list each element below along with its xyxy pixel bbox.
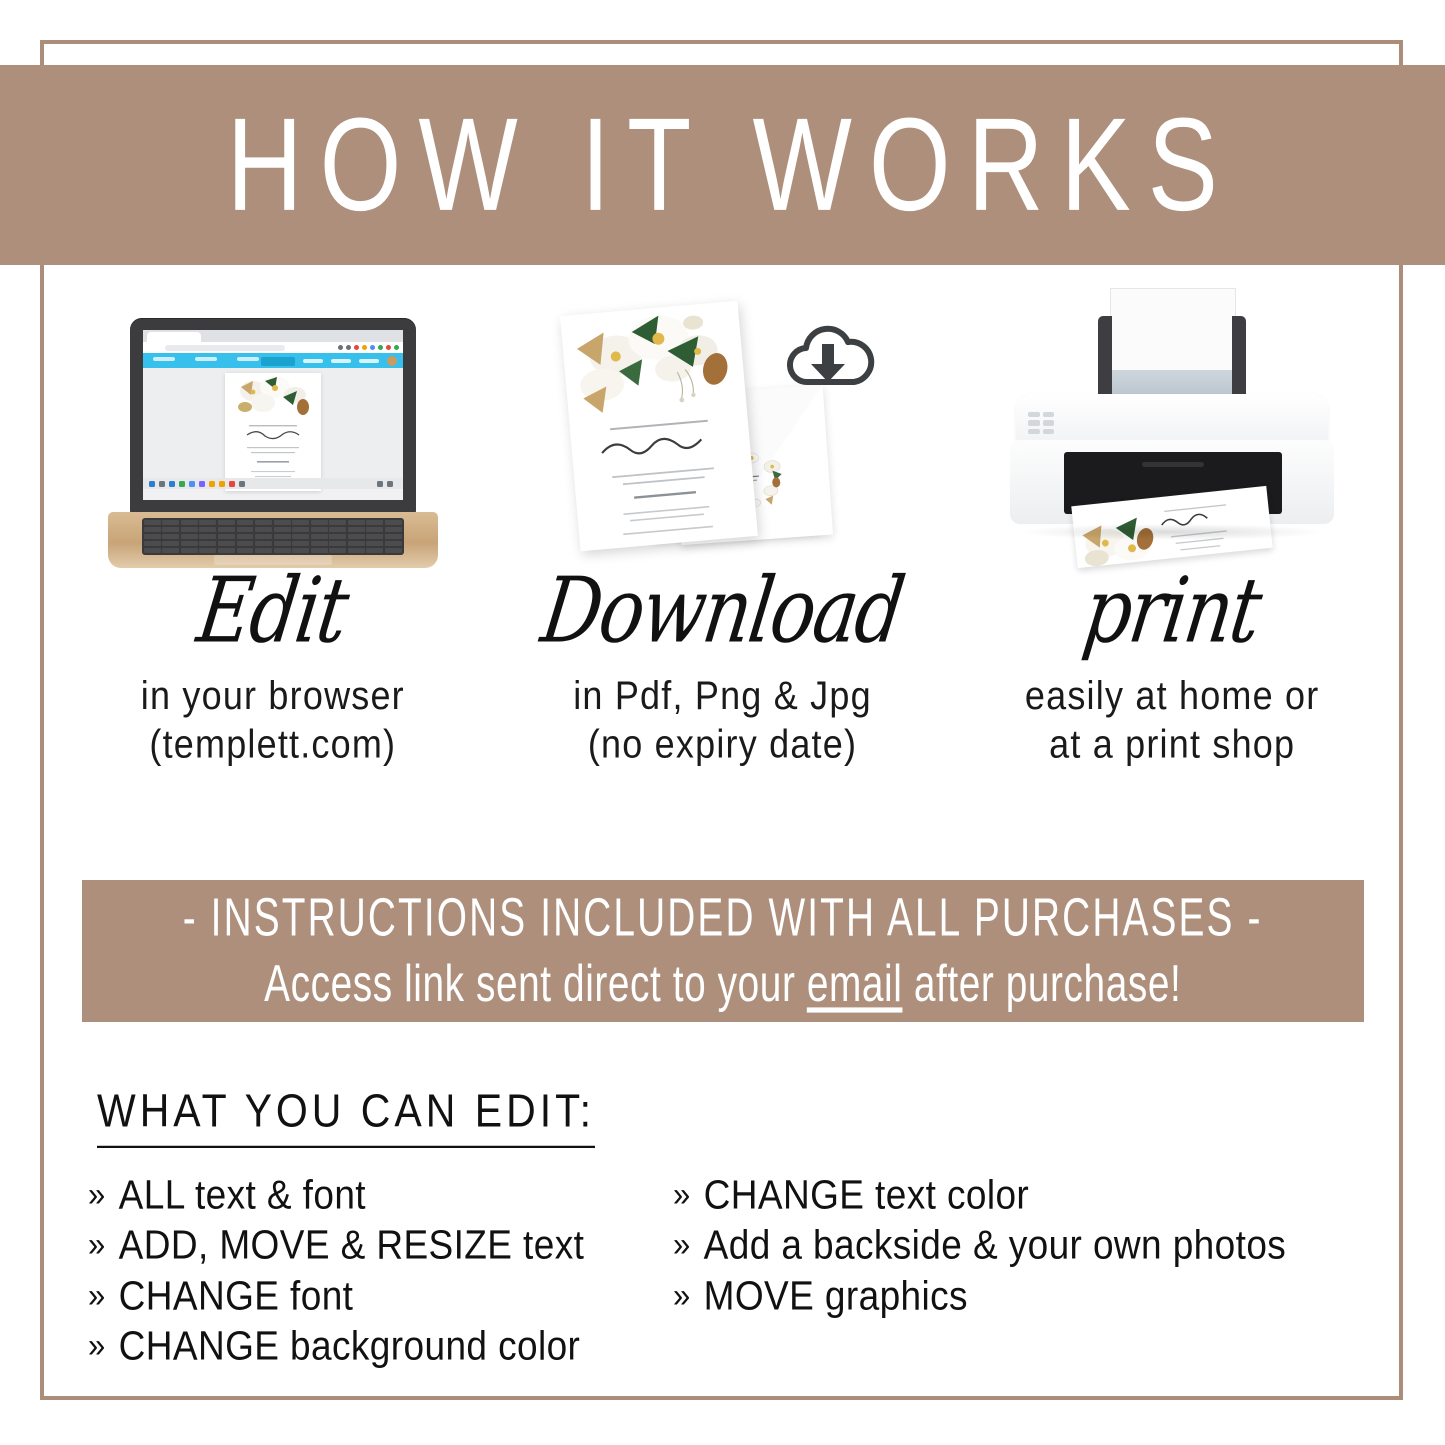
app-menu-items <box>153 357 259 361</box>
step-caption-edit: in your browser (templett.com) <box>141 672 405 769</box>
app-toolbar-actions <box>261 356 397 366</box>
chevron-double-right-icon: » <box>673 1227 691 1265</box>
step-caption-download: in Pdf, Png & Jpg (no expiry date) <box>573 672 872 769</box>
avatar <box>387 356 397 366</box>
steps-row: Edit in your browser (templett.com) <box>48 278 1397 818</box>
subline-after: after purchase! <box>903 955 1182 1012</box>
invitation-card <box>560 301 758 552</box>
what-you-can-edit-columns: » ALL text & font » ADD, MOVE & RESIZE t… <box>88 1172 1378 1374</box>
templett-app-toolbar <box>143 353 403 368</box>
editor-canvas <box>143 368 403 489</box>
invitation-preview <box>225 373 321 491</box>
list-item-label: MOVE graphics <box>704 1273 968 1319</box>
step-download: Download in Pdf, Png & Jpg (no expiry da… <box>498 278 948 818</box>
printer-shadow <box>1024 524 1320 540</box>
list-item-label: Add a backside & your own photos <box>704 1222 1287 1268</box>
browser-tab-bar <box>143 330 403 342</box>
step-caption-line2: at a print shop <box>1025 720 1320 768</box>
chevron-double-right-icon: » <box>673 1277 691 1315</box>
browser-extension-icons <box>338 345 399 350</box>
step-caption-line1: in your browser <box>141 672 405 720</box>
step-script-label-print: print <box>1079 566 1266 656</box>
laptop-keyboard <box>142 518 404 555</box>
what-you-can-edit-heading: WHAT YOU CAN EDIT: <box>97 1085 595 1148</box>
step-script-label-edit: Edit <box>193 566 352 656</box>
header-banner: HOW IT WORKS <box>0 65 1445 265</box>
page-title: HOW IT WORKS <box>210 99 1235 231</box>
invitation-floral-artwork <box>560 301 758 552</box>
email-link[interactable]: email <box>807 955 903 1012</box>
list-item: » ALL text & font <box>88 1172 673 1218</box>
edit-column-left: » ALL text & font » ADD, MOVE & RESIZE t… <box>88 1172 673 1374</box>
chevron-double-right-icon: » <box>673 1176 691 1214</box>
floral-invitation-icon <box>225 373 321 491</box>
step-script-label-download: Download <box>537 566 908 656</box>
instructions-headline: - INSTRUCTIONS INCLUDED WITH ALL PURCHAS… <box>183 891 1263 945</box>
printer-illustration <box>947 278 1397 568</box>
browser-url-bar <box>143 342 403 353</box>
step-print: print easily at home or at a print shop <box>947 278 1397 818</box>
instructions-banner: - INSTRUCTIONS INCLUDED WITH ALL PURCHAS… <box>82 880 1364 1022</box>
invitation-envelope-illustration <box>498 278 948 568</box>
edit-column-right: » CHANGE text color » Add a backside & y… <box>673 1172 1378 1374</box>
step-caption-print: easily at home or at a print shop <box>1025 672 1320 769</box>
laptop-illustration <box>48 278 498 568</box>
list-item-label: CHANGE text color <box>704 1172 1030 1218</box>
instructions-subline: Access link sent direct to your email af… <box>264 958 1181 1010</box>
download-button-icon <box>261 357 295 366</box>
chevron-double-right-icon: » <box>88 1328 106 1366</box>
list-item: » CHANGE text color <box>673 1172 1378 1218</box>
list-item-label: CHANGE background color <box>119 1323 581 1369</box>
step-caption-line1: easily at home or <box>1025 672 1320 720</box>
chevron-double-right-icon: » <box>88 1277 106 1315</box>
windows-taskbar <box>143 478 403 489</box>
list-item: » MOVE graphics <box>673 1273 1378 1319</box>
chevron-double-right-icon: » <box>88 1227 106 1265</box>
list-item: » Add a backside & your own photos <box>673 1222 1378 1268</box>
printer-control-panel <box>1028 412 1054 434</box>
list-item: » CHANGE background color <box>88 1323 673 1369</box>
list-item-label: CHANGE font <box>119 1273 354 1319</box>
step-caption-line1: in Pdf, Png & Jpg <box>573 672 872 720</box>
chevron-double-right-icon: » <box>88 1176 106 1214</box>
step-edit: Edit in your browser (templett.com) <box>48 278 498 818</box>
laptop-screen <box>143 330 403 500</box>
list-item: » ADD, MOVE & RESIZE text <box>88 1222 673 1268</box>
step-caption-line2: (templett.com) <box>141 720 405 768</box>
list-item-label: ADD, MOVE & RESIZE text <box>119 1222 585 1268</box>
laptop-lid-icon <box>130 318 416 514</box>
how-it-works-infographic: HOW IT WORKS <box>0 0 1445 1445</box>
subline-before: Access link sent direct to your <box>264 955 807 1012</box>
url-field <box>165 345 285 351</box>
browser-tab <box>147 332 201 342</box>
list-item-label: ALL text & font <box>119 1172 366 1218</box>
step-caption-line2: (no expiry date) <box>573 720 872 768</box>
list-item: » CHANGE font <box>88 1273 673 1319</box>
cloud-download-icon <box>782 320 878 400</box>
